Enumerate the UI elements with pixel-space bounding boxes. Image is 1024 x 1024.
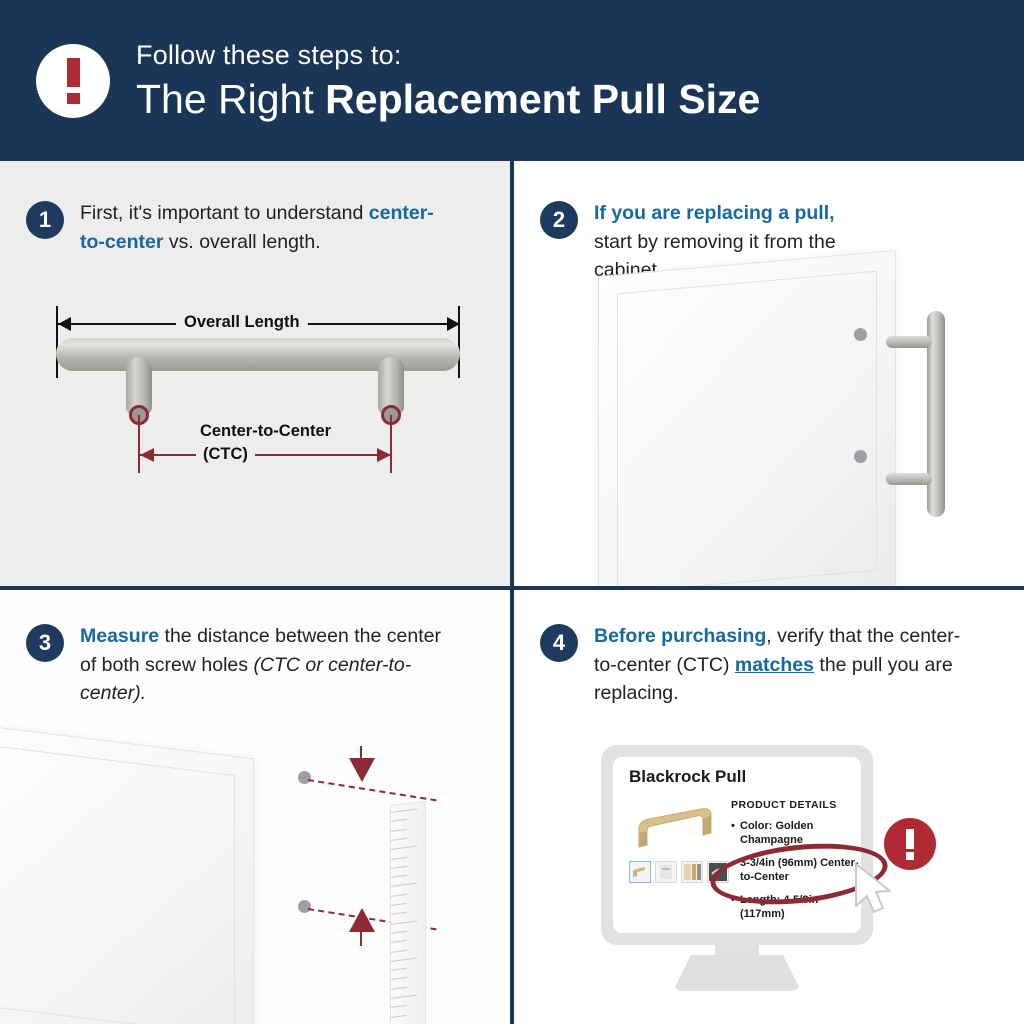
overall-arrow-left-icon [58, 317, 71, 331]
ctc-arrow-right-icon [377, 448, 391, 462]
step-number-4: 4 [540, 624, 578, 662]
step-number-1: 1 [26, 201, 64, 239]
step-3-text-highlight: Measure [80, 625, 159, 647]
header-text-block: Follow these steps to: The Right Replace… [136, 39, 760, 122]
step-number-3: 3 [26, 624, 64, 662]
ruler-tick [391, 819, 407, 822]
measured-screw-hole-bottom [298, 900, 311, 913]
ruler-tick [391, 1005, 407, 1008]
ruler-tick [391, 949, 407, 952]
grid-vertical-divider [510, 161, 514, 1024]
ruler-tick [391, 977, 407, 980]
step-3-text: Measure the distance between the center … [80, 622, 446, 708]
ruler-tick [391, 866, 407, 869]
step-number-2: 2 [540, 201, 578, 239]
step-4-text: Before purchasing, verify that the cente… [594, 622, 980, 708]
step-1-text-a: First, it's important to understand [80, 202, 369, 224]
ruler-tick [391, 883, 417, 887]
panel-step-3: 3 Measure the distance between the cente… [0, 590, 510, 1024]
page-header: Follow these steps to: The Right Replace… [0, 0, 1024, 161]
cabinet-door-graphic [598, 250, 896, 586]
ruler-tick [391, 912, 407, 915]
ruler-tick [391, 856, 407, 859]
pull-dimension-diagram: Overall Length Center-to-Center (CTC) [48, 303, 468, 483]
ruler-tick [391, 838, 407, 841]
product-thumbnail-1[interactable] [629, 861, 651, 883]
step-1-text: First, it's important to understand cent… [80, 199, 436, 256]
ruler-tick [391, 829, 407, 832]
cabinet-door-inner-panel [617, 271, 877, 586]
step-1-text-b: vs. overall length. [163, 231, 320, 253]
step-1-heading: 1 First, it's important to understand ce… [26, 199, 436, 256]
product-thumbnail-2[interactable] [655, 861, 677, 883]
bar-pull-arm-top [886, 336, 932, 348]
exclamation-badge-icon [36, 44, 110, 118]
overall-arrow-right-icon [447, 317, 460, 331]
grid-horizontal-divider [0, 586, 1024, 590]
product-hero-image[interactable] [631, 799, 723, 851]
cabinet-door-graphic-measured [0, 722, 254, 1024]
overall-length-label: Overall Length [176, 313, 308, 332]
ruler-tick [391, 940, 407, 943]
ruler-tick [391, 920, 417, 924]
ruler-tick [391, 968, 407, 971]
cabinet-screw-hole-bottom [854, 450, 867, 463]
matches-link[interactable]: matches [735, 654, 814, 676]
panel-step-1: 1 First, it's important to understand ce… [0, 161, 510, 586]
cabinet-door-inner-panel-measured [0, 743, 235, 1024]
header-kicker: Follow these steps to: [136, 39, 760, 71]
measure-arrow-down-icon [349, 758, 375, 782]
step-4-heading: 4 Before purchasing, verify that the cen… [540, 622, 980, 708]
ruler-tick [391, 846, 417, 850]
ruler-graphic [390, 801, 426, 1024]
page-title-light: The Right [136, 76, 325, 122]
measured-screw-hole-top [298, 771, 311, 784]
step-3-heading: 3 Measure the distance between the cente… [26, 622, 446, 708]
mouse-pointer-icon [852, 862, 898, 923]
ruler-tick [391, 957, 417, 961]
ruler-tick [391, 809, 417, 813]
bar-pull-arm-bottom [886, 473, 932, 485]
ctc-label: Center-to-Center [128, 422, 403, 441]
product-thumbnail-3[interactable] [681, 861, 703, 883]
ctc-abbreviation: (CTC) [196, 445, 255, 464]
ctc-arrow-left-icon [140, 448, 154, 462]
product-details-heading: PRODUCT DETAILS [731, 799, 861, 811]
cabinet-screw-hole-top [854, 328, 867, 341]
ruler-tick [391, 903, 407, 906]
product-title: Blackrock Pull [629, 767, 746, 787]
measure-arrow-up-icon [349, 908, 375, 932]
page-title-bold: Replacement Pull Size [325, 76, 760, 122]
step-4-text-highlight: Before purchasing [594, 625, 766, 647]
measure-arrow-up-stem [360, 930, 362, 946]
product-detail-color: Color: Golden Champagne [731, 819, 861, 847]
ruler-tick [391, 995, 417, 999]
ruler-tick [391, 931, 407, 934]
page-title: The Right Replacement Pull Size [136, 77, 760, 122]
ruler-tick [391, 894, 407, 897]
monitor-base [673, 955, 801, 991]
ruler-tick [391, 987, 407, 990]
ctc-line [140, 454, 390, 456]
ruler-tick [391, 1015, 407, 1018]
step-2-text-highlight: If you are replacing a pull, [594, 202, 835, 224]
panel-step-2: 2 If you are replacing a pull, start by … [514, 161, 1024, 586]
infographic-page: Follow these steps to: The Right Replace… [0, 0, 1024, 1024]
ruler-tick [391, 875, 407, 878]
